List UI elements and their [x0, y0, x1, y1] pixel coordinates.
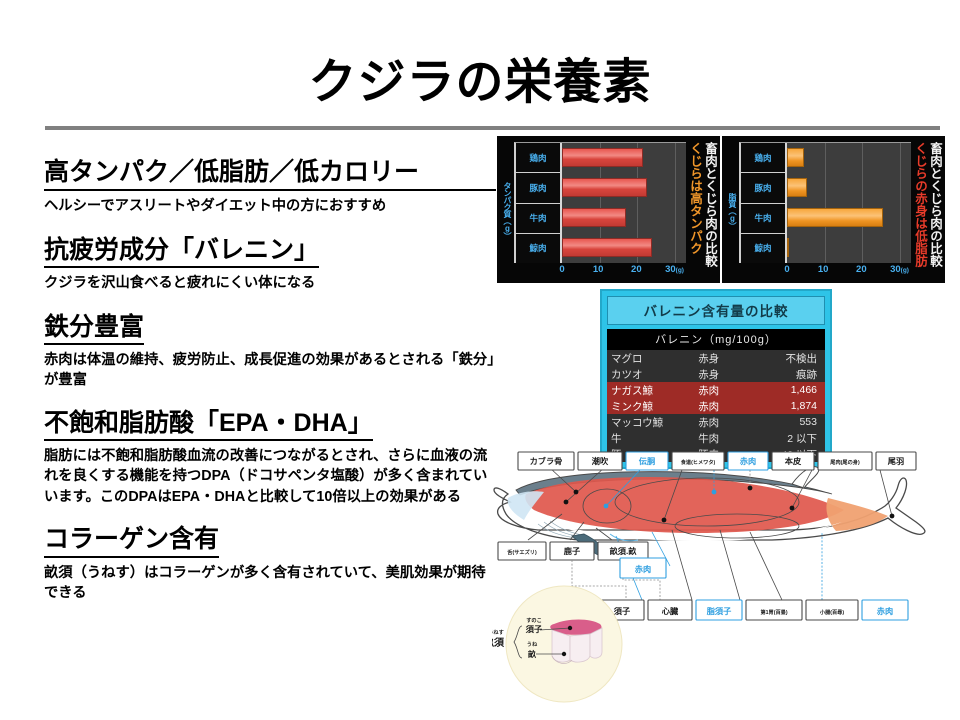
diagram-label: 小腸(百尋)	[820, 608, 844, 616]
table-header-cell: バレニン（mg/100g）	[607, 329, 825, 350]
chart-x-tick: 0	[559, 264, 564, 275]
chart-bar	[787, 208, 883, 227]
chart-bar	[562, 148, 643, 167]
chart-bar	[562, 238, 652, 257]
chart-x-axis: 0 10 20 30(g)	[560, 263, 686, 279]
chart-plot-area: 鶏肉 豚肉 牛肉 鯨肉	[514, 142, 686, 263]
diagram-label: 脂須子	[707, 606, 732, 616]
balenine-table-card: バレニン含有量の比較 バレニン（mg/100g） マグロ赤身不検出カツオ赤身痕跡…	[600, 289, 832, 469]
diagram-label: 尾肉(尾の身)	[830, 458, 860, 466]
bullet-item-3: 鉄分豊富 赤肉は体温の維持、疲労防止、成長促進の効果があるとされる「鉄分」が豊富	[44, 313, 496, 391]
table-cell: 赤身	[694, 350, 751, 366]
bullet-body: ヘルシーでアスリートやダイエット中の方におすすめ	[44, 196, 496, 216]
chart-bar-row	[562, 235, 686, 261]
chart-bar-row	[787, 175, 911, 201]
diagram-label: 鹿子	[564, 546, 580, 556]
chart-bar	[787, 148, 804, 167]
chart-bars-region	[787, 143, 911, 263]
bullet-heading: 高タンパク／低脂肪／低カロリー	[44, 158, 496, 191]
chart-bar-row	[562, 145, 686, 171]
table-cell: 2 以下	[751, 430, 825, 446]
table-cell: 赤肉	[694, 398, 751, 414]
chart-x-tick: 10	[593, 264, 604, 275]
balenine-table: バレニン（mg/100g） マグロ赤身不検出カツオ赤身痕跡ナガス鯨赤肉1,466…	[607, 329, 825, 462]
chart-bar-row	[562, 205, 686, 231]
chart-x-tick: 0	[784, 264, 789, 275]
table-body: マグロ赤身不検出カツオ赤身痕跡ナガス鯨赤肉1,466ミンク鯨赤肉1,874マッコ…	[607, 350, 825, 462]
chart-x-tick: 20	[856, 264, 867, 275]
chart-x-tick: 30(g)	[890, 264, 909, 275]
diagram-inset-detail: すのこ 須子 うね 畝 うねす 畝須	[492, 586, 622, 702]
chart-bar	[787, 178, 807, 197]
bullet-body: クジラを沢山食べると疲れにくい体になる	[44, 273, 496, 293]
table-row: カツオ赤身痕跡	[607, 366, 825, 382]
diagram-label: 本皮	[785, 456, 802, 466]
diagram-label: 伝胴	[639, 456, 655, 466]
diagram-label: 畝須.畝	[610, 546, 638, 556]
bullet-heading: コラーゲン含有	[44, 525, 219, 558]
comparison-charts: タンパク質（g） 鶏肉 豚肉 牛肉 鯨肉	[497, 136, 945, 283]
table-cell: 不検出	[751, 350, 825, 366]
title-divider	[45, 126, 940, 130]
diagram-label: 赤肉	[635, 564, 651, 574]
chart-x-tick: 10	[818, 264, 829, 275]
inset-part2-label: 畝	[528, 649, 537, 659]
chart-bar-row	[787, 235, 911, 261]
chart-category-label: 牛肉	[516, 204, 560, 234]
diagram-label: 心臓	[662, 606, 679, 616]
chart-subtitle-vertical: くじらは高タンパク	[686, 142, 701, 279]
fat-comparison-chart: 脂質（g） 鶏肉 豚肉 牛肉 鯨肉	[722, 136, 945, 283]
chart-x-tick: 20	[631, 264, 642, 275]
slide: クジラの栄養素 高タンパク／低脂肪／低カロリー ヘルシーでアスリートやダイエット…	[0, 0, 960, 720]
inset-group-kana: うねす	[492, 628, 504, 636]
diagram-label: 舌(サエズリ)	[507, 548, 537, 556]
diagram-label: カブラ骨	[530, 456, 563, 466]
inset-part1-kana: すのこ	[526, 616, 542, 624]
chart-category-label: 鯨肉	[516, 234, 560, 263]
table-row: 牛牛肉2 以下	[607, 430, 825, 446]
chart-category-label: 牛肉	[741, 204, 785, 234]
bullet-list: 高タンパク／低脂肪／低カロリー ヘルシーでアスリートやダイエット中の方におすすめ…	[44, 158, 496, 620]
diagram-label: 赤肉	[877, 606, 893, 616]
table-cell: 痕跡	[751, 366, 825, 382]
chart-title-vertical: 畜肉とくじら肉の比較	[926, 142, 941, 279]
table-cell: カツオ	[607, 366, 694, 382]
table-row: マッコウ鯨赤肉553	[607, 414, 825, 430]
table-cell: 牛	[607, 430, 694, 446]
diagram-label: 赤肉	[740, 456, 756, 466]
chart-title-vertical: 畜肉とくじら肉の比較	[701, 142, 716, 279]
bullet-heading: 不飽和脂肪酸「EPA・DHA」	[44, 409, 373, 442]
chart-category-label: 豚肉	[516, 173, 560, 203]
diagram-floating-label: 赤肉	[620, 558, 666, 578]
chart-bars-region	[562, 143, 686, 263]
table-cell: 1,874	[751, 398, 825, 414]
table-row: マグロ赤身不検出	[607, 350, 825, 366]
chart-plot-area: 鶏肉 豚肉 牛肉 鯨肉	[739, 142, 911, 263]
bullet-item-1: 高タンパク／低脂肪／低カロリー ヘルシーでアスリートやダイエット中の方におすすめ	[44, 158, 496, 216]
chart-bar-row	[787, 205, 911, 231]
diagram-label: 須子	[613, 606, 630, 616]
chart-category-label: 鯨肉	[741, 234, 785, 263]
table-cell: 赤身	[694, 366, 751, 382]
table-cell: ナガス鯨	[607, 382, 694, 398]
chart-plot-wrapper: 鶏肉 豚肉 牛肉 鯨肉	[739, 142, 911, 279]
chart-bar	[787, 238, 789, 257]
bullet-body: 畝須（うねす）はコラーゲンが多く含有されていて、美肌効果が期待できる	[44, 563, 496, 604]
chart-category-label: 鶏肉	[516, 143, 560, 173]
chart-bar-row	[562, 175, 686, 201]
table-cell: ミンク鯨	[607, 398, 694, 414]
bullet-item-4: 不飽和脂肪酸「EPA・DHA」 脂肪には不飽和脂肪酸血流の改善につながるとされ、…	[44, 409, 496, 507]
protein-comparison-chart: タンパク質（g） 鶏肉 豚肉 牛肉 鯨肉	[497, 136, 720, 283]
inset-part1-label: 須子	[525, 624, 542, 634]
balenine-card-title: バレニン含有量の比較	[607, 296, 825, 325]
chart-x-axis: 0 10 20 30(g)	[785, 263, 911, 279]
bullet-heading: 鉄分豊富	[44, 313, 144, 346]
whale-anatomy-diagram: .lbox { fill:#ffffff; stroke:#4a4a4a; st…	[492, 448, 954, 710]
chart-subtitle-vertical: くじらの赤身は低脂肪	[911, 142, 926, 279]
table-cell: マグロ	[607, 350, 694, 366]
diagram-label: 食道(ヒメワタ)	[680, 458, 716, 466]
chart-bar-row	[787, 145, 911, 171]
table-cell: 牛肉	[694, 430, 751, 446]
bullet-heading: 抗疲労成分「バレニン」	[44, 236, 319, 269]
table-cell: マッコウ鯨	[607, 414, 694, 430]
chart-x-tick: 30(g)	[665, 264, 684, 275]
table-cell: 1,466	[751, 382, 825, 398]
table-cell: 赤肉	[694, 382, 751, 398]
table-cell: 赤肉	[694, 414, 751, 430]
diagram-bottom-labels: 須子 心臓 脂須子 第1胃(百畳) 小腸(百尋) 赤肉	[600, 600, 908, 620]
table-cell: 553	[751, 414, 825, 430]
table-header-row: バレニン（mg/100g）	[607, 329, 825, 350]
inset-part2-kana: うね	[527, 640, 538, 648]
page-title: クジラの栄養素	[0, 42, 960, 112]
chart-category-column: 鶏肉 豚肉 牛肉 鯨肉	[516, 143, 562, 263]
bullet-item-5: コラーゲン含有 畝須（うねす）はコラーゲンが多く含有されていて、美肌効果が期待で…	[44, 525, 496, 603]
chart-category-column: 鶏肉 豚肉 牛肉 鯨肉	[741, 143, 787, 263]
diagram-label: 潮吹	[592, 456, 609, 466]
table-row: ナガス鯨赤肉1,466	[607, 382, 825, 398]
table-row: ミンク鯨赤肉1,874	[607, 398, 825, 414]
bullet-body: 脂肪には不飽和脂肪酸血流の改善につながるとされ、さらに血液の流れを良くする機能を…	[44, 446, 496, 507]
bullet-item-2: 抗疲労成分「バレニン」 クジラを沢山食べると疲れにくい体になる	[44, 236, 496, 294]
diagram-top-labels: カブラ骨 潮吹 伝胴 食道(ヒメワタ) 赤肉 本皮 尾肉(尾の身) 尾羽	[518, 452, 916, 470]
chart-bar	[562, 208, 626, 227]
chart-y-axis-label: 脂質（g）	[726, 142, 739, 279]
diagram-label: 尾羽	[888, 457, 904, 466]
inset-group-label: 畝須	[492, 636, 505, 649]
chart-plot-wrapper: 鶏肉 豚肉 牛肉 鯨肉	[514, 142, 686, 279]
chart-category-label: 豚肉	[741, 173, 785, 203]
bullet-body: 赤肉は体温の維持、疲労防止、成長促進の効果があるとされる「鉄分」が豊富	[44, 350, 496, 391]
diagram-label: 第1胃(百畳)	[760, 608, 787, 616]
chart-category-label: 鶏肉	[741, 143, 785, 173]
chart-y-axis-label: タンパク質（g）	[501, 142, 514, 279]
chart-bar	[562, 178, 647, 197]
